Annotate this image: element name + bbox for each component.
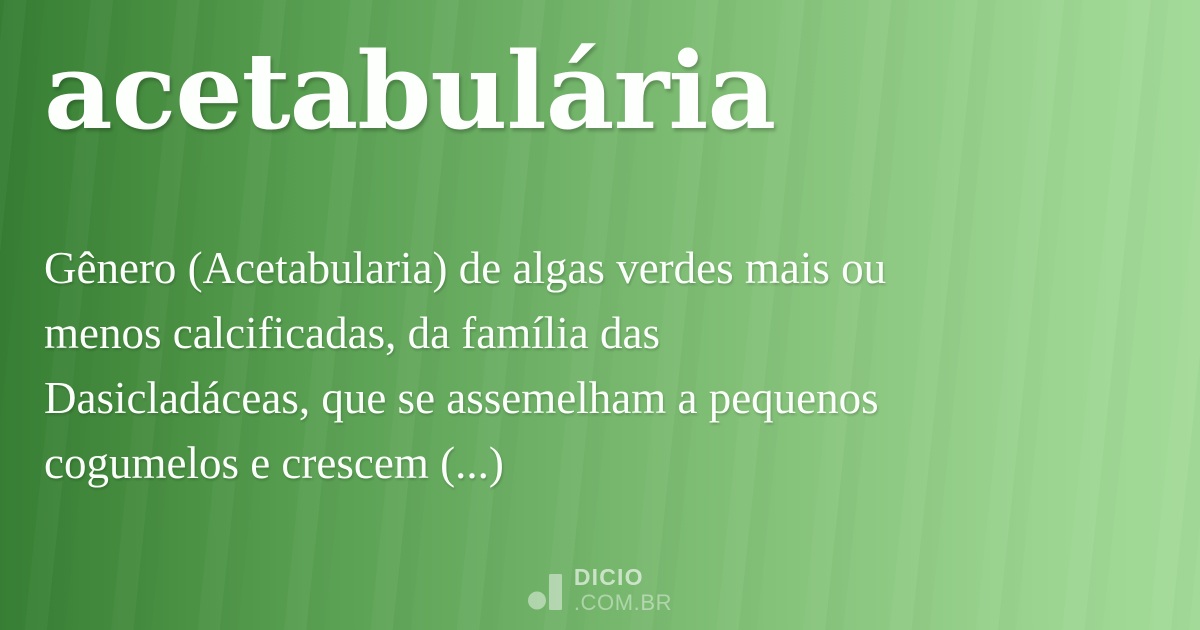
dictionary-share-card: acetabulária Gênero (Acetabularia) de al… (0, 0, 1200, 630)
definition-line: cogumelos e crescem (...) (44, 431, 1134, 496)
dicio-logo-text: DICIO .COM.BR (574, 566, 672, 614)
definition-line: Gênero (Acetabularia) de algas verdes ma… (44, 236, 1134, 301)
dicio-logo-tld: .COM.BR (574, 592, 672, 614)
dicio-logo-name: DICIO (574, 566, 644, 589)
definition-text: Gênero (Acetabularia) de algas verdes ma… (44, 236, 1134, 496)
page-title: acetabulária (44, 28, 775, 153)
dicio-logo: DICIO .COM.BR (0, 566, 1200, 614)
definition-line: Dasicladáceas, que se assemelham a peque… (44, 366, 1134, 431)
dicio-circle-bar-icon (528, 570, 562, 610)
definition-line: menos calcificadas, da família das (44, 301, 1134, 366)
card-content: acetabulária Gênero (Acetabularia) de al… (0, 0, 1200, 630)
